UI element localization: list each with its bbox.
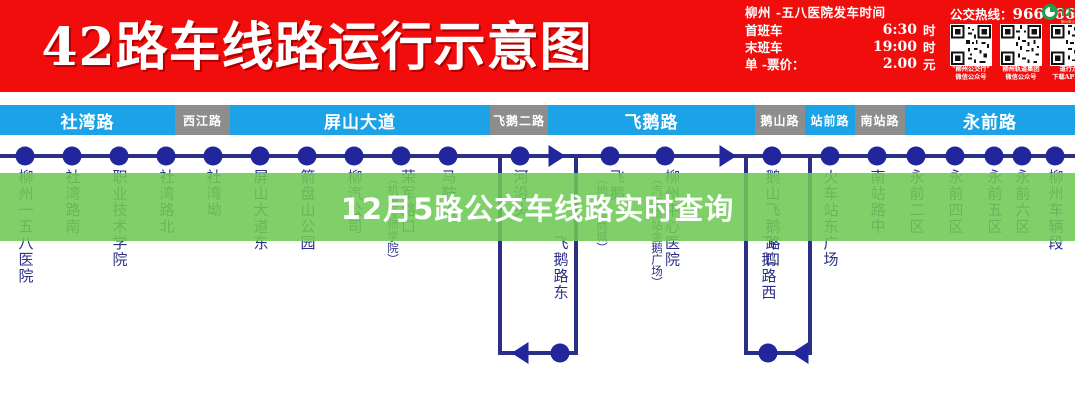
first-bus-unit: 时 [923,22,945,39]
qr-code-icon[interactable] [950,24,992,66]
road-name-社湾路: 社湾路 [0,105,175,135]
direction-arrow-left [512,342,529,364]
header-banner: 42路车线路运行示意图 柳州 -五八医院发车时间 首班车 6:30 时 末班车 … [0,0,1075,92]
direction-arrow-right [549,145,566,167]
station-dot-top[interactable] [1046,147,1065,166]
fare-label: 单 -票价： [745,56,817,73]
first-bus-time: 6:30 [817,22,923,39]
qr-code-icon[interactable] [1000,24,1042,66]
watermark-text: 12月5路公交车线路实时查询 [341,186,735,228]
schedule-row-last: 末班车 19:00 时 [745,39,945,56]
qr-item[interactable]: "柳州公交行" 微信公众号 [950,24,992,81]
station-dot-top[interactable] [110,147,129,166]
svg-text:i23: i23 [1061,6,1075,19]
qr-caption-line1: 柳州轨道集团 [1000,66,1042,74]
station-dot-top[interactable] [392,147,411,166]
road-name-西江路: 西江路 [175,105,230,135]
station-dot-top[interactable] [251,147,270,166]
header-info-panel: 柳州 -五八医院发车时间 首班车 6:30 时 末班车 19:00 时 单 -票… [745,2,1075,90]
station-dot-bottom[interactable] [759,344,778,363]
fare-value: 2.00 [817,56,923,73]
station-dot-top[interactable] [439,147,458,166]
station-label[interactable]: 飞鹅路西 [760,235,777,301]
station-dot-top[interactable] [157,147,176,166]
road-name-永前路: 永前路 [905,105,1075,135]
station-dot-top[interactable] [946,147,965,166]
transit-logo-icon: i23 24 柳州市公交智能信息网 [1041,4,1075,24]
schedule-row-first: 首班车 6:30 时 [745,22,945,39]
station-dot-top[interactable] [16,147,35,166]
qr-item[interactable]: 道行龙城APP 下载APP 扫码乘车 [1050,24,1075,81]
page-title: 42路车线路运行示意图 [12,6,622,78]
last-bus-unit: 时 [923,39,945,56]
qr-caption-line2: 下载APP 扫码乘车 [1050,74,1075,82]
road-name-飞鹅路: 飞鹅路 [548,105,755,135]
bus-route-diagram-page: 42路车线路运行示意图 柳州 -五八医院发车时间 首班车 6:30 时 末班车 … [0,0,1075,400]
station-dot-top[interactable] [204,147,223,166]
qr-caption-line2: 微信公众号 [1000,74,1042,82]
first-bus-label: 首班车 [745,22,817,39]
station-label-main: 飞鹅路东 [552,235,569,301]
watermark-band: 12月5路公交车线路实时查询 [0,173,1075,241]
station-dot-top[interactable] [763,147,782,166]
qr-code-group: "柳州公交行" 微信公众号 [950,24,1075,81]
schedule-block: 柳州 -五八医院发车时间 首班车 6:30 时 末班车 19:00 时 单 -票… [745,4,945,73]
station-dot-top[interactable] [656,147,675,166]
station-dot-bottom[interactable] [551,344,570,363]
station-dot-top[interactable] [63,147,82,166]
road-name-屏山大道: 屏山大道 [230,105,490,135]
station-dot-top[interactable] [907,147,926,166]
qr-code-icon[interactable] [1050,24,1075,66]
schedule-title: 柳州 -五八医院发车时间 [745,4,945,22]
route-diagram: 柳州一五八医院社湾路南职业技术学院社湾路北社湾坳屏山大道东箭盘山公园柳汽公司荣军… [0,135,1075,380]
station-dot-top[interactable] [601,147,620,166]
qr-item[interactable]: 柳州轨道集团 微信公众号 [1000,24,1042,81]
station-label-main: 飞鹅路西 [760,235,777,301]
station-dot-top[interactable] [345,147,364,166]
station-dot-top[interactable] [511,147,530,166]
station-dot-top[interactable] [821,147,840,166]
station-dot-top[interactable] [868,147,887,166]
schedule-row-fare: 单 -票价： 2.00 元 [745,56,945,73]
road-name-飞鹅二路: 飞鹅二路 [490,105,548,135]
qr-caption-line1: "柳州公交行" [950,66,992,74]
hotline-label: 公交热线： [950,7,1013,22]
station-dot-top[interactable] [1013,147,1032,166]
station-label[interactable]: 飞鹅路东 [552,235,569,301]
direction-arrow-left [792,342,809,364]
road-name-南站路: 南站路 [855,105,905,135]
road-name-站前路: 站前路 [805,105,855,135]
station-dot-top[interactable] [985,147,1004,166]
station-dot-top[interactable] [298,147,317,166]
fare-unit: 元 [923,56,945,73]
road-name-鹅山路: 鹅山路 [755,105,805,135]
last-bus-label: 末班车 [745,39,817,56]
direction-arrow-right [720,145,737,167]
qr-caption-line2: 微信公众号 [950,74,992,82]
qr-caption-line1: 道行龙城APP [1050,66,1075,74]
last-bus-time: 19:00 [817,39,923,56]
